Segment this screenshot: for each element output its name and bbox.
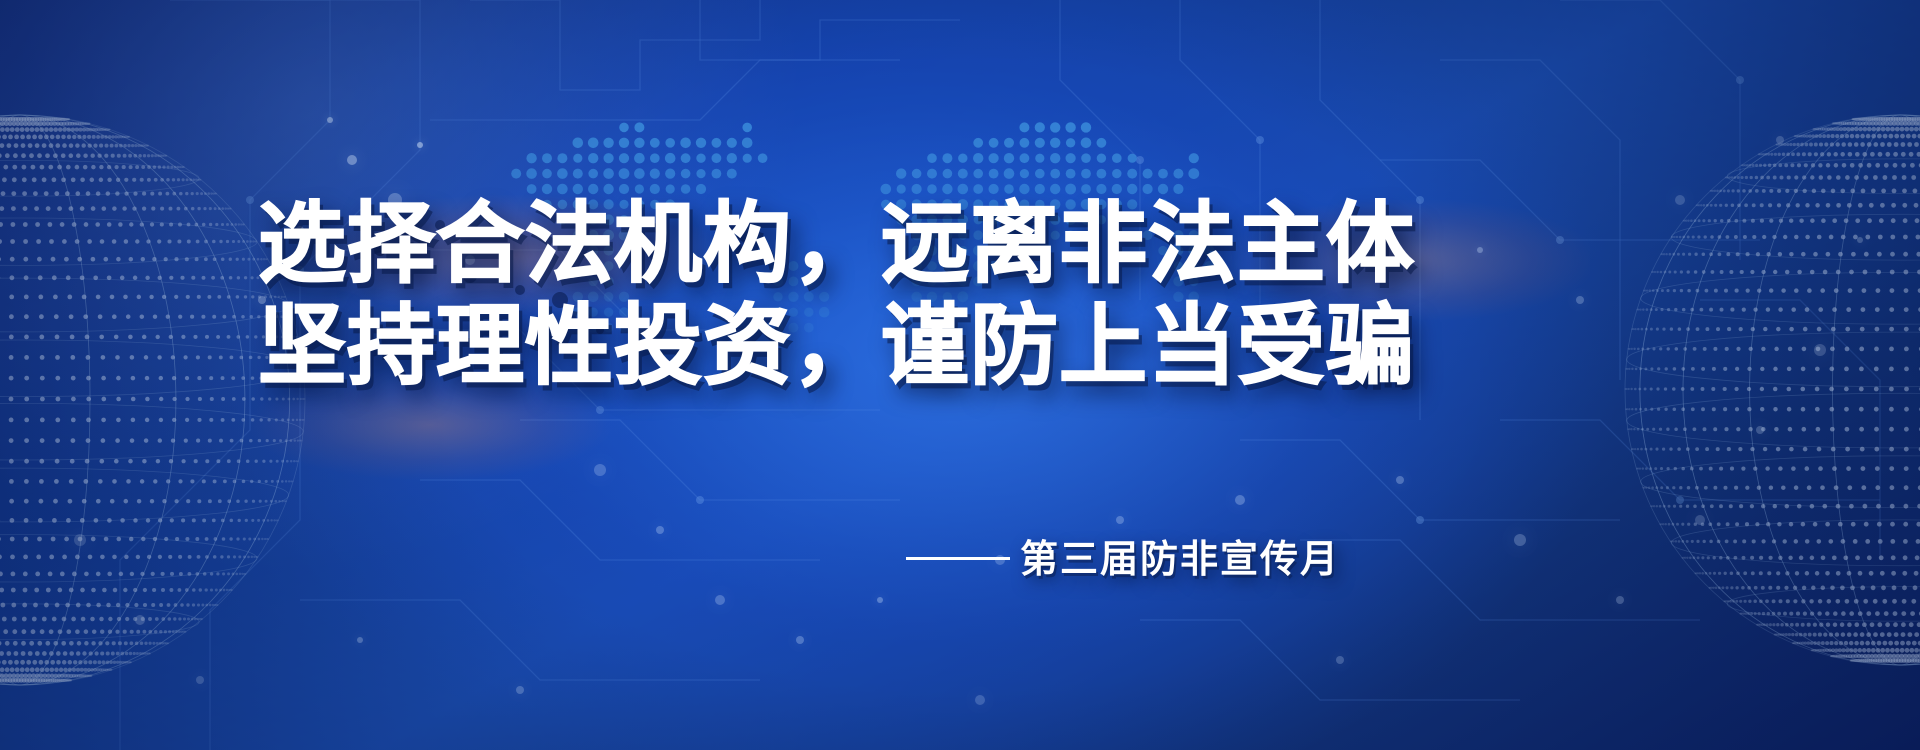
- headline-line-2: 坚持理性投资，谨防上当受骗: [258, 298, 1378, 394]
- promo-banner: 选择合法机构，远离非法主体 坚持理性投资，谨防上当受骗 第三届防非宣传月: [0, 0, 1920, 750]
- banner-content: 选择合法机构，远离非法主体 坚持理性投资，谨防上当受骗 第三届防非宣传月: [0, 0, 1920, 750]
- attribution-line: 第三届防非宣传月: [0, 536, 1340, 584]
- headline-line-1: 选择合法机构，远离非法主体: [258, 196, 1378, 292]
- headline-block: 选择合法机构，远离非法主体 坚持理性投资，谨防上当受骗: [258, 196, 1378, 394]
- attribution-text: 第三届防非宣传月: [1020, 539, 1340, 581]
- em-dash-rule: [906, 557, 1010, 560]
